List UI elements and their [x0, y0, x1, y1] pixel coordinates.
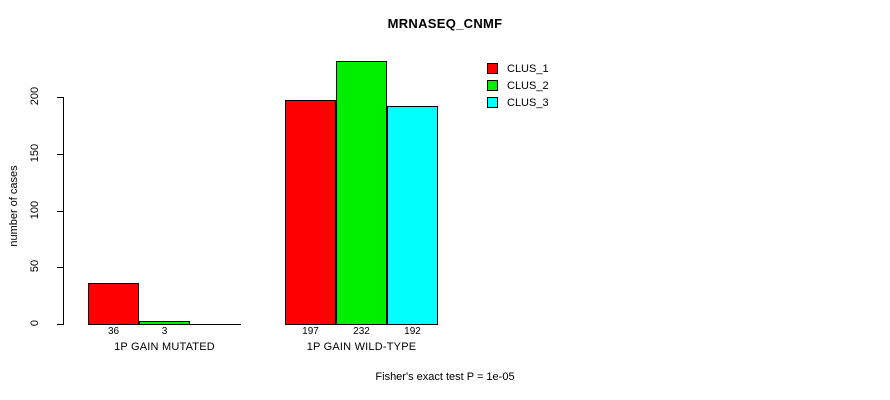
footer-annotation: Fisher's exact test P = 1e-05 [0, 371, 890, 383]
bar[interactable] [336, 61, 387, 325]
legend-item[interactable]: CLUS_2 [487, 77, 549, 94]
group-label: 1P GAIN WILD-TYPE [245, 341, 478, 353]
legend-label: CLUS_2 [507, 80, 549, 92]
bar[interactable] [88, 283, 139, 325]
legend: CLUS_1CLUS_2CLUS_3 [487, 60, 549, 111]
legend-color-swatch [487, 80, 498, 91]
x-axis-baseline [285, 324, 438, 325]
legend-color-swatch [487, 63, 498, 74]
x-axis-baseline [88, 324, 241, 325]
legend-label: CLUS_3 [507, 97, 549, 109]
bars-layer [0, 0, 890, 325]
chart-page: MRNASEQ_CNMF 200150100500 number of case… [0, 0, 890, 400]
bar-value-label: 197 [285, 326, 336, 337]
bar-value-label: 36 [88, 326, 139, 337]
legend-color-swatch [487, 97, 498, 108]
bar-value-label: 232 [336, 326, 387, 337]
plot-area: 200150100500 number of cases 36319723219… [0, 0, 890, 400]
legend-label: CLUS_1 [507, 63, 549, 75]
bar-value-label: 192 [387, 326, 438, 337]
bar[interactable] [387, 106, 438, 325]
legend-item[interactable]: CLUS_3 [487, 94, 549, 111]
bar-value-label: 3 [139, 326, 190, 337]
legend-item[interactable]: CLUS_1 [487, 60, 549, 77]
bar[interactable] [285, 100, 336, 325]
